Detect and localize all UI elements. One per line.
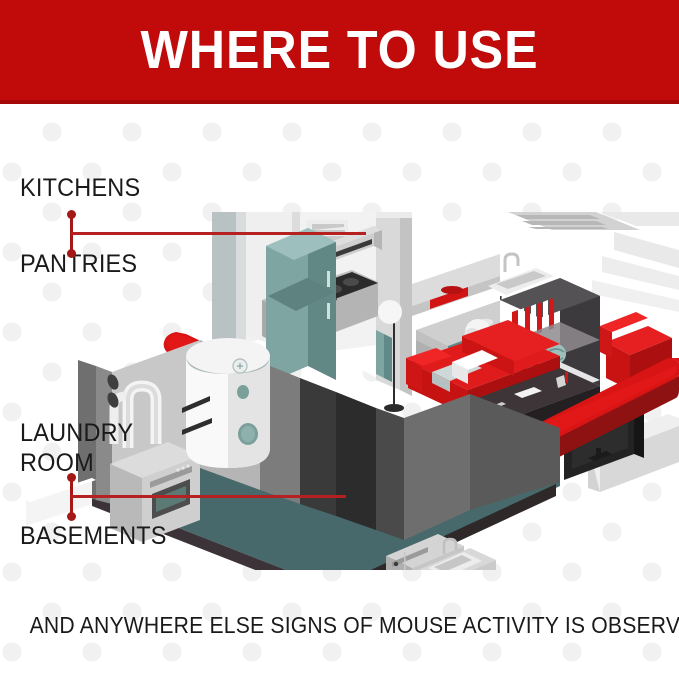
- ceiling-vent-strips: [508, 212, 679, 230]
- header-banner: WHERE TO USE: [0, 0, 679, 104]
- basement-left-step: [26, 478, 96, 526]
- label-laundry-room-line2: ROOM: [20, 448, 133, 478]
- label-basements: BASEMENTS: [20, 522, 167, 551]
- house-cutaway-illustration: [0, 100, 679, 570]
- label-pantries: PANTRIES: [20, 250, 137, 279]
- page-title: WHERE TO USE: [24, 0, 655, 100]
- water-heater-tank: [182, 338, 270, 468]
- label-laundry-room: LAUNDRY ROOM: [20, 418, 133, 478]
- footer-caption: AND ANYWHERE ELSE SIGNS OF MOUSE ACTIVIT…: [0, 612, 679, 639]
- footer-caption-text: AND ANYWHERE ELSE SIGNS OF MOUSE ACTIVIT…: [30, 612, 679, 639]
- infographic-page: WHERE TO USE: [0, 0, 679, 679]
- label-kitchens: KITCHENS: [20, 174, 140, 203]
- label-laundry-room-line1: LAUNDRY: [20, 418, 133, 448]
- refrigerator: [266, 228, 336, 384]
